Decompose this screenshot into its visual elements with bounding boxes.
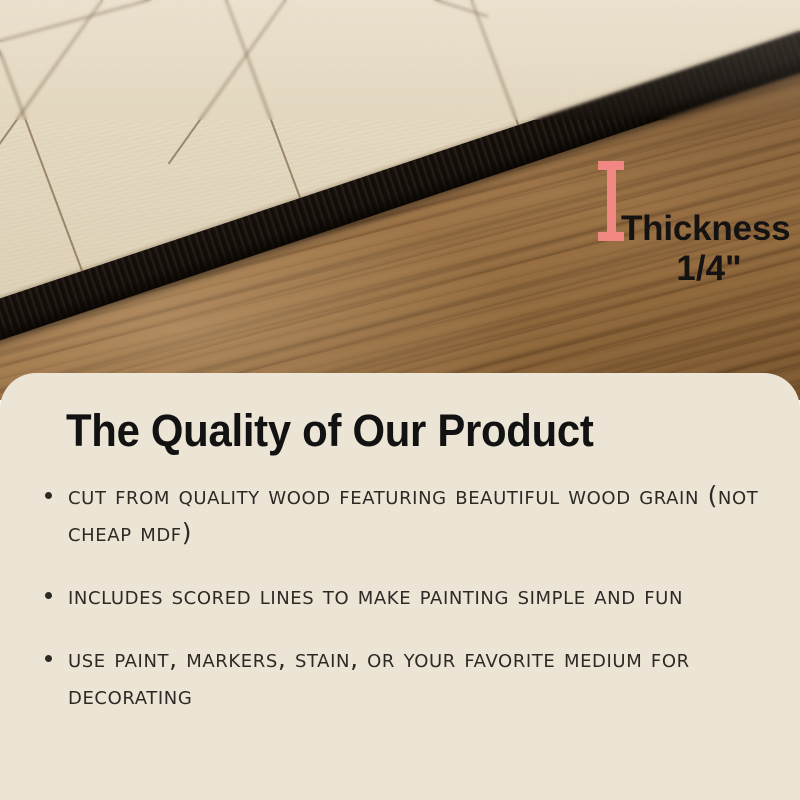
thickness-value: 1/4" [621, 249, 797, 289]
quality-bullet-list: Cut from quality wood featuring beautifu… [40, 477, 760, 740]
quality-info-card: The Quality of Our Product Cut from qual… [0, 373, 800, 800]
bracket-stem [607, 161, 616, 241]
list-item: Includes scored lines to make painting s… [40, 577, 760, 614]
thickness-label: Thickness [621, 209, 790, 249]
product-infographic: Thickness 1/4" The Quality of Our Produc… [0, 0, 800, 800]
wood-plaque [0, 0, 800, 400]
list-item: Cut from quality wood featuring beautifu… [40, 477, 760, 551]
product-photo: Thickness 1/4" [0, 0, 800, 400]
card-title: The Quality of Our Product [66, 405, 594, 457]
list-item: Use paint, markers, stain, or your favor… [40, 640, 760, 714]
